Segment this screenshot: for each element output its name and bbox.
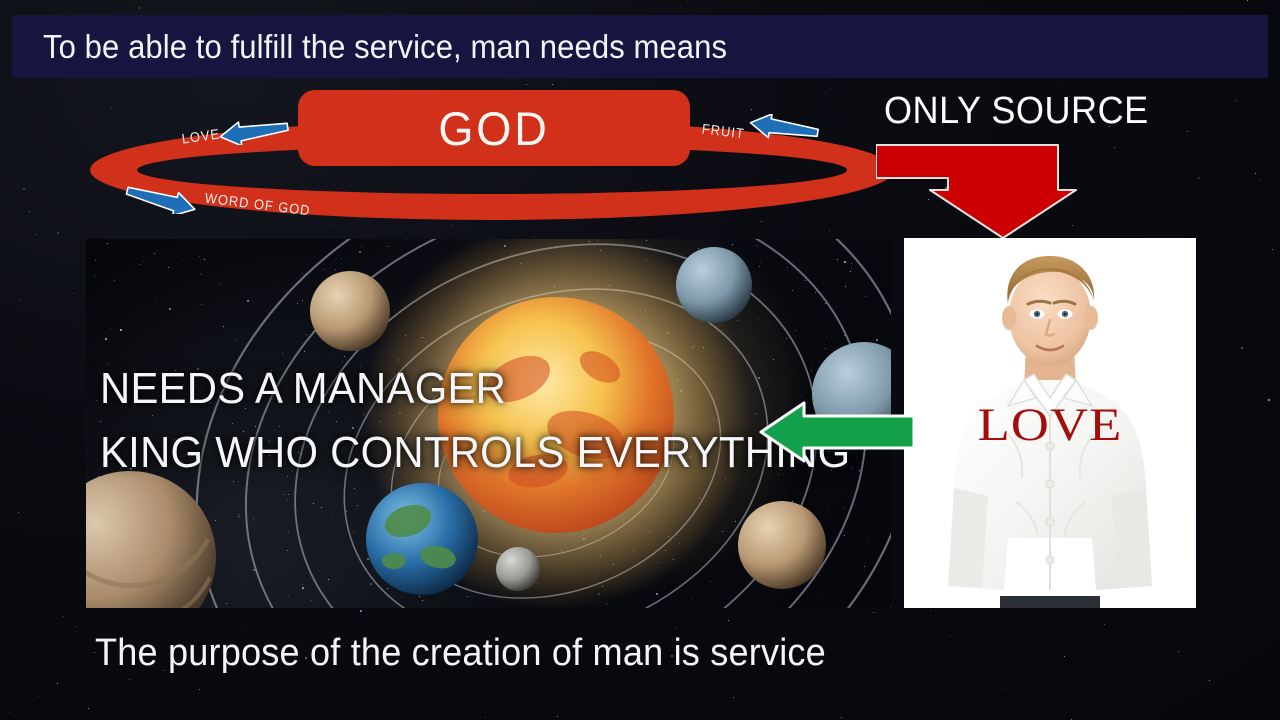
only-source-label: ONLY SOURCE [884, 90, 1149, 133]
person-photo: LOVE [904, 238, 1196, 608]
god-box: GOD [298, 90, 690, 166]
slide-canvas: To be able to fulfill the service, man n… [0, 0, 1280, 720]
shirt-love-label: LOVE [904, 398, 1196, 452]
green-left-arrow-icon [757, 397, 917, 467]
only-source-elbow-arrow-icon [876, 138, 1086, 243]
page-title: To be able to fulfill the service, man n… [12, 28, 727, 66]
bottom-caption: The purpose of the creation of man is se… [95, 632, 826, 675]
love-arrow-icon [218, 119, 290, 145]
fruit-arrow-icon [748, 114, 820, 142]
space-panel-text: NEEDS A MANAGER KING WHO CONTROLS EVERYT… [100, 357, 850, 485]
space-text-line-1: NEEDS A MANAGER [100, 357, 850, 421]
title-banner: To be able to fulfill the service, man n… [12, 15, 1268, 78]
god-label: GOD [438, 101, 549, 156]
word-of-god-arrow-icon [122, 186, 198, 214]
cycle-diagram: GOD LOVE FRUIT WORD OF GOD [0, 78, 960, 243]
space-text-line-2: KING WHO CONTROLS EVERYTHING [100, 421, 850, 485]
